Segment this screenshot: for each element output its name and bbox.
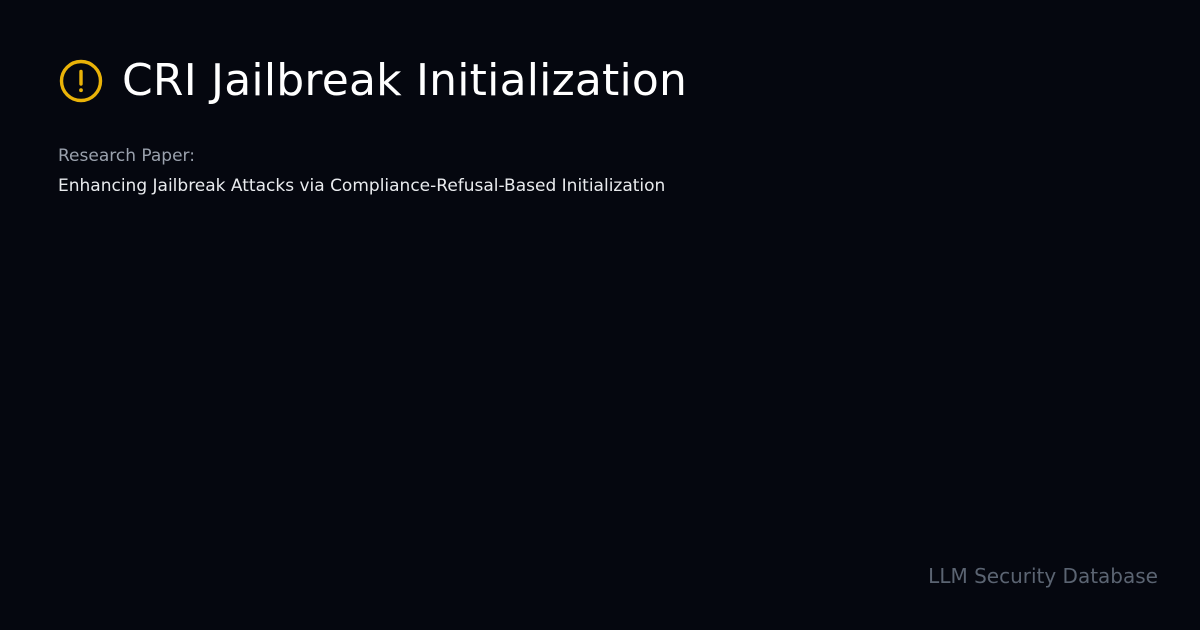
page-title: CRI Jailbreak Initialization	[122, 58, 687, 104]
header: CRI Jailbreak Initialization	[58, 58, 687, 104]
preview-card: CRI Jailbreak Initialization Research Pa…	[0, 0, 1200, 630]
paper-title: Enhancing Jailbreak Attacks via Complian…	[58, 174, 665, 198]
subtitle-label: Research Paper:	[58, 144, 665, 168]
alert-circle-icon	[58, 58, 104, 104]
subtitle-block: Research Paper: Enhancing Jailbreak Atta…	[58, 144, 665, 198]
footer-brand: LLM Security Database	[928, 564, 1158, 588]
